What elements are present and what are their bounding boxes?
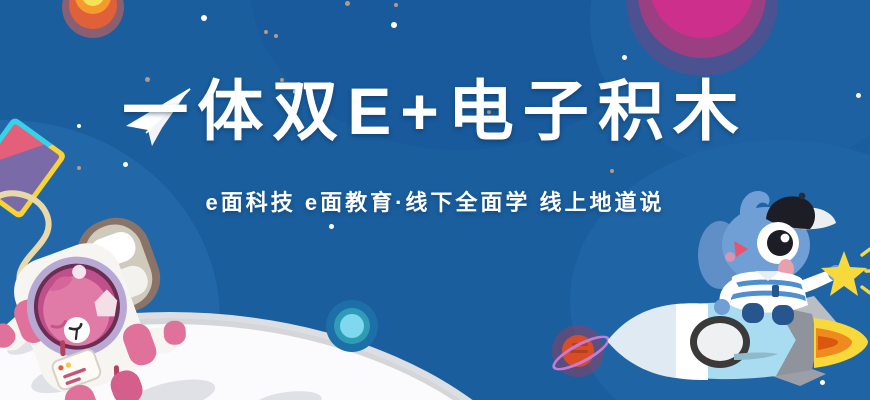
star-dot [123, 162, 128, 167]
star-dot [345, 1, 350, 6]
astronaut-character [0, 216, 218, 400]
star-dot [394, 3, 398, 7]
star-dot [329, 224, 334, 229]
star-icon [816, 245, 870, 301]
star-dot [391, 22, 397, 28]
star-dot [77, 166, 81, 170]
star-dot [264, 30, 268, 34]
star-dot [610, 169, 614, 173]
saturn-planet-icon [552, 325, 604, 377]
promo-banner: 一体双E+电子积木 e面科技 e面教育·线下全面学 线上地道说 [0, 0, 870, 400]
star-dot [622, 55, 627, 60]
star-dot [201, 15, 207, 21]
page-subtitle: e面科技 e面教育·线下全面学 线上地道说 [0, 192, 870, 214]
star-dot [274, 34, 278, 38]
page-title: 一体双E+电子积木 [0, 78, 870, 144]
